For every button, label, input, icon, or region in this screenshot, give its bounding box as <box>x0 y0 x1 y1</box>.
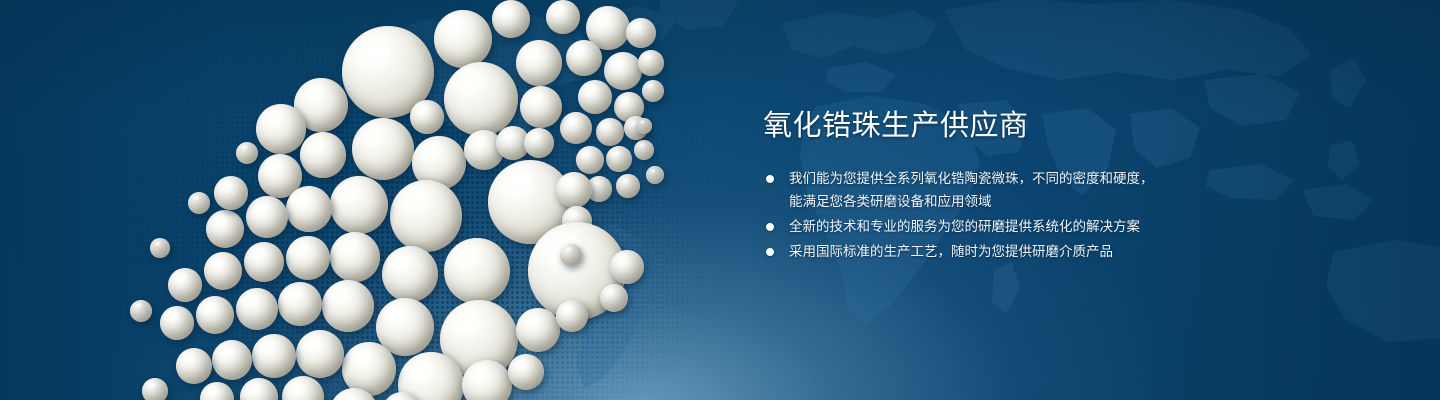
list-item: 全新的技术和专业的服务为您的研磨提供系统化的解决方案 <box>763 215 1233 238</box>
banner-headline: 氧化锆珠生产供应商 <box>763 108 1233 144</box>
banner-copy-block: 氧化锆珠生产供应商 我们能为您提供全系列氧化锆陶瓷微珠，不同的密度和硬度， 能满… <box>763 108 1233 265</box>
bullet-dot-icon <box>766 223 774 231</box>
banner-feature-list: 我们能为您提供全系列氧化锆陶瓷微珠，不同的密度和硬度， 能满足您各类研磨设备和应… <box>763 167 1233 263</box>
list-item: 我们能为您提供全系列氧化锆陶瓷微珠，不同的密度和硬度， 能满足您各类研磨设备和应… <box>763 167 1233 213</box>
list-item-line-1: 采用国际标准的生产工艺，随时为您提供研磨介质产品 <box>789 240 1233 263</box>
bullet-dot-icon <box>766 248 774 256</box>
hero-banner: 氧化锆珠生产供应商 我们能为您提供全系列氧化锆陶瓷微珠，不同的密度和硬度， 能满… <box>0 0 1440 400</box>
bullet-dot-icon <box>766 175 774 183</box>
list-item-line-2: 能满足您各类研磨设备和应用领域 <box>789 190 1233 213</box>
list-item: 采用国际标准的生产工艺，随时为您提供研磨介质产品 <box>763 240 1233 263</box>
list-item-line-1: 全新的技术和专业的服务为您的研磨提供系统化的解决方案 <box>789 215 1233 238</box>
list-item-line-1: 我们能为您提供全系列氧化锆陶瓷微珠，不同的密度和硬度， <box>789 167 1233 190</box>
